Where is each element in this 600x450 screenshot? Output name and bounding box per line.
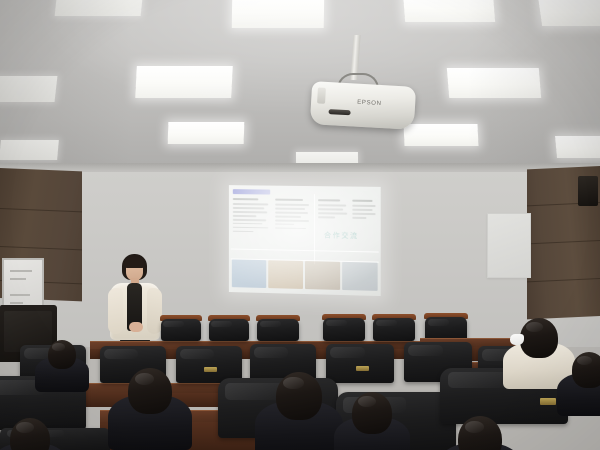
attendee-head [458, 416, 502, 450]
chair-row1 [373, 318, 415, 341]
projected-slide: 合作交流 [229, 185, 381, 296]
hair-highlight [283, 377, 303, 390]
attendee-head [352, 392, 392, 434]
hair-highlight [465, 421, 484, 433]
attendee-head [572, 352, 600, 388]
whiteboard [487, 213, 531, 278]
conference-room-photo: EPSON [0, 0, 600, 450]
chair-row2 [326, 344, 394, 383]
face-mask [510, 334, 524, 345]
presenter-hands [129, 322, 143, 332]
projector-brand-label: EPSON [357, 100, 382, 107]
chair-number-plate [540, 398, 556, 405]
presenter-right-arm [147, 288, 162, 334]
hair-highlight [52, 343, 64, 351]
attendee-head [276, 372, 322, 420]
chair-number-plate [356, 366, 369, 371]
slide-thumbnail [268, 260, 303, 289]
chair-row1 [257, 319, 299, 341]
slide-photo-strip [232, 259, 378, 291]
ceiling [0, 0, 600, 172]
slide-column-4 [352, 200, 376, 221]
slide-column-3 [318, 199, 348, 220]
attendee-head [520, 318, 558, 358]
slide-thumbnail [342, 262, 377, 291]
chair-number-plate [204, 367, 217, 372]
wall-speaker [578, 176, 598, 206]
slide-thumbnail [305, 261, 340, 290]
projector-lens-icon [328, 109, 350, 115]
ceiling-shading [0, 0, 600, 172]
chair-row1 [161, 319, 201, 341]
attendee-head [128, 368, 172, 414]
hair-highlight [135, 373, 154, 385]
presenter-left-arm [108, 288, 123, 334]
slide-header-banner [233, 189, 270, 194]
chair-row1 [209, 319, 249, 341]
projection-screen: 合作交流 [229, 185, 381, 296]
slide-thumbnail [232, 259, 266, 288]
attendee-head [10, 418, 50, 450]
projector: EPSON [310, 81, 416, 130]
slide-column-2 [275, 199, 311, 232]
hair-highlight [577, 356, 592, 365]
slide-accent-text: 合作交流 [324, 230, 359, 241]
slide-rule-1 [231, 248, 379, 252]
slide-divider [314, 194, 315, 264]
attendee-head [48, 340, 76, 369]
slide-column-1 [233, 198, 270, 235]
presenter-fringe [124, 257, 145, 268]
chair-row1 [323, 318, 365, 341]
